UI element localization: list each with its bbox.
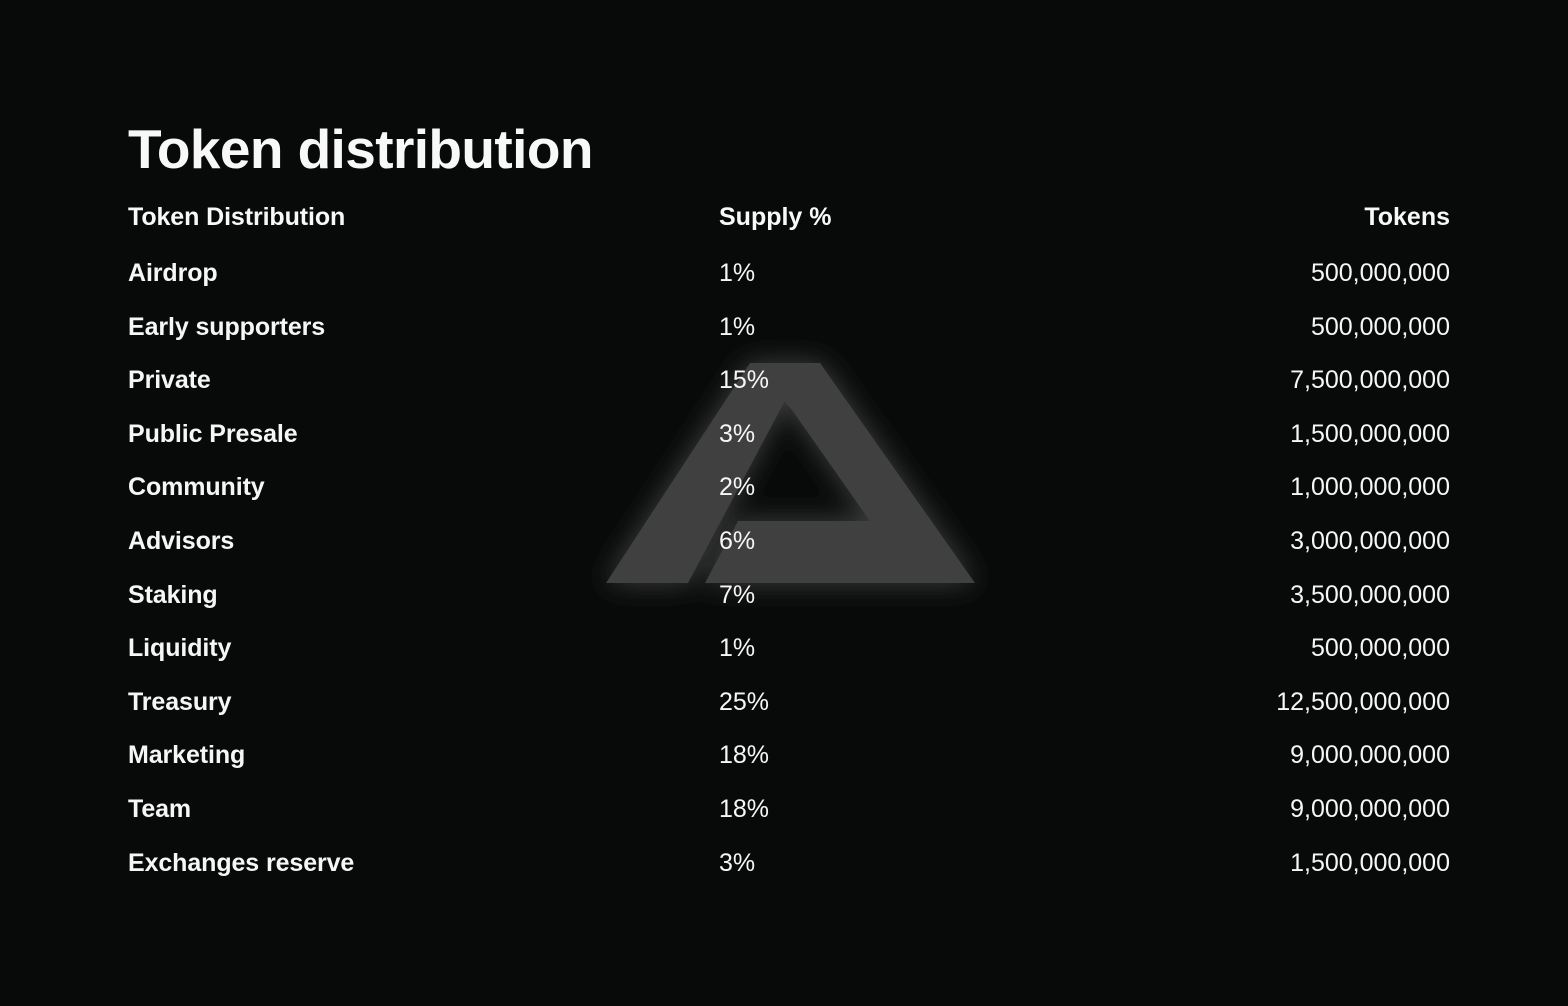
row-tokens: 500,000,000 xyxy=(1219,259,1450,288)
row-tokens: 3,500,000,000 xyxy=(1219,581,1450,610)
row-supply: 25% xyxy=(719,688,1219,717)
table-row: Airdrop 1% 500,000,000 xyxy=(128,259,1450,313)
table-row: Advisors 6% 3,000,000,000 xyxy=(128,527,1450,581)
slide-root: Token distribution Token Distribution Su… xyxy=(0,0,1568,1006)
row-supply: 15% xyxy=(719,366,1219,395)
row-label: Advisors xyxy=(128,527,719,556)
table-row: Early supporters 1% 500,000,000 xyxy=(128,313,1450,367)
row-label: Early supporters xyxy=(128,313,719,342)
row-supply: 18% xyxy=(719,741,1219,770)
row-tokens: 3,000,000,000 xyxy=(1219,527,1450,556)
row-supply: 2% xyxy=(719,473,1219,502)
row-tokens: 1,500,000,000 xyxy=(1219,849,1450,878)
column-header-name: Token Distribution xyxy=(128,203,719,232)
row-supply: 1% xyxy=(719,259,1219,288)
table-row: Community 2% 1,000,000,000 xyxy=(128,473,1450,527)
token-distribution-table: Token Distribution Supply % Tokens Airdr… xyxy=(128,203,1450,902)
table-row: Private 15% 7,500,000,000 xyxy=(128,366,1450,420)
row-label: Community xyxy=(128,473,719,502)
table-row: Team 18% 9,000,000,000 xyxy=(128,795,1450,849)
row-supply: 6% xyxy=(719,527,1219,556)
table-row: Liquidity 1% 500,000,000 xyxy=(128,634,1450,688)
row-tokens: 7,500,000,000 xyxy=(1219,366,1450,395)
row-label: Treasury xyxy=(128,688,719,717)
table-row: Staking 7% 3,500,000,000 xyxy=(128,581,1450,635)
table-row: Marketing 18% 9,000,000,000 xyxy=(128,741,1450,795)
row-tokens: 9,000,000,000 xyxy=(1219,795,1450,824)
row-label: Exchanges reserve xyxy=(128,849,719,878)
row-label: Private xyxy=(128,366,719,395)
column-header-tokens: Tokens xyxy=(1219,203,1450,232)
row-supply: 3% xyxy=(719,420,1219,449)
row-label: Team xyxy=(128,795,719,824)
row-tokens: 500,000,000 xyxy=(1219,313,1450,342)
table-row: Exchanges reserve 3% 1,500,000,000 xyxy=(128,849,1450,903)
row-label: Liquidity xyxy=(128,634,719,663)
table-row: Public Presale 3% 1,500,000,000 xyxy=(128,420,1450,474)
row-tokens: 1,500,000,000 xyxy=(1219,420,1450,449)
row-label: Airdrop xyxy=(128,259,719,288)
row-label: Marketing xyxy=(128,741,719,770)
table-header-row: Token Distribution Supply % Tokens xyxy=(128,203,1450,259)
row-tokens: 1,000,000,000 xyxy=(1219,473,1450,502)
row-label: Staking xyxy=(128,581,719,610)
row-supply: 1% xyxy=(719,634,1219,663)
row-supply: 3% xyxy=(719,849,1219,878)
row-tokens: 12,500,000,000 xyxy=(1219,688,1450,717)
row-supply: 18% xyxy=(719,795,1219,824)
column-header-supply: Supply % xyxy=(719,203,1219,232)
page-title: Token distribution xyxy=(128,121,593,179)
row-label: Public Presale xyxy=(128,420,719,449)
row-tokens: 9,000,000,000 xyxy=(1219,741,1450,770)
table-row: Treasury 25% 12,500,000,000 xyxy=(128,688,1450,742)
row-supply: 1% xyxy=(719,313,1219,342)
row-supply: 7% xyxy=(719,581,1219,610)
row-tokens: 500,000,000 xyxy=(1219,634,1450,663)
